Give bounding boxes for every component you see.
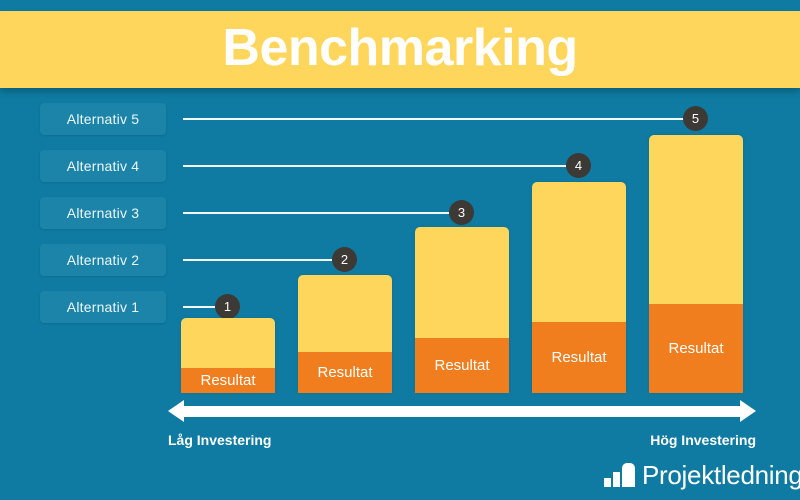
- bar: Resultat: [415, 227, 509, 393]
- header-band: Benchmarking: [0, 11, 800, 88]
- bar-result-segment: Resultat: [181, 368, 275, 393]
- option-number-badge: 4: [566, 153, 591, 178]
- option-connector-line: [183, 259, 332, 261]
- brand-name: Projektledning: [642, 460, 800, 491]
- bar-result-segment: Resultat: [649, 304, 743, 393]
- option-row: Alternativ 55: [0, 103, 800, 135]
- bar-result-segment: Resultat: [298, 352, 392, 393]
- bar: Resultat: [298, 275, 392, 393]
- option-connector-line: [183, 212, 449, 214]
- option-label-chip[interactable]: Alternativ 4: [40, 150, 166, 182]
- option-number-badge: 3: [449, 200, 474, 225]
- axis-label-low: Låg Investering: [168, 432, 271, 448]
- option-number-badge: 2: [332, 247, 357, 272]
- brand-logo: Projektledning: [604, 458, 800, 492]
- bar-chart-icon: [604, 463, 638, 487]
- axis-label-high: Hög Investering: [452, 432, 756, 448]
- page-title: Benchmarking: [0, 11, 800, 88]
- bar: Resultat: [181, 318, 275, 393]
- bar-result-segment: Resultat: [532, 322, 626, 393]
- bar: Resultat: [532, 182, 626, 393]
- option-label-chip[interactable]: Alternativ 5: [40, 103, 166, 135]
- arrow-shaft: [182, 406, 742, 417]
- option-label-chip[interactable]: Alternativ 2: [40, 244, 166, 276]
- investment-axis-arrow: [168, 400, 756, 422]
- bar: Resultat: [649, 135, 743, 393]
- bar-result-segment: Resultat: [415, 338, 509, 393]
- option-label-chip[interactable]: Alternativ 1: [40, 291, 166, 323]
- option-connector-line: [183, 306, 215, 308]
- option-connector-line: [183, 165, 566, 167]
- option-number-badge: 5: [683, 106, 708, 131]
- arrow-right-head-icon: [740, 400, 756, 422]
- option-number-badge: 1: [215, 294, 240, 319]
- option-connector-line: [183, 118, 685, 120]
- option-label-chip[interactable]: Alternativ 3: [40, 197, 166, 229]
- benchmarking-infographic: Benchmarking Alternativ 55Alternativ 44A…: [0, 0, 800, 500]
